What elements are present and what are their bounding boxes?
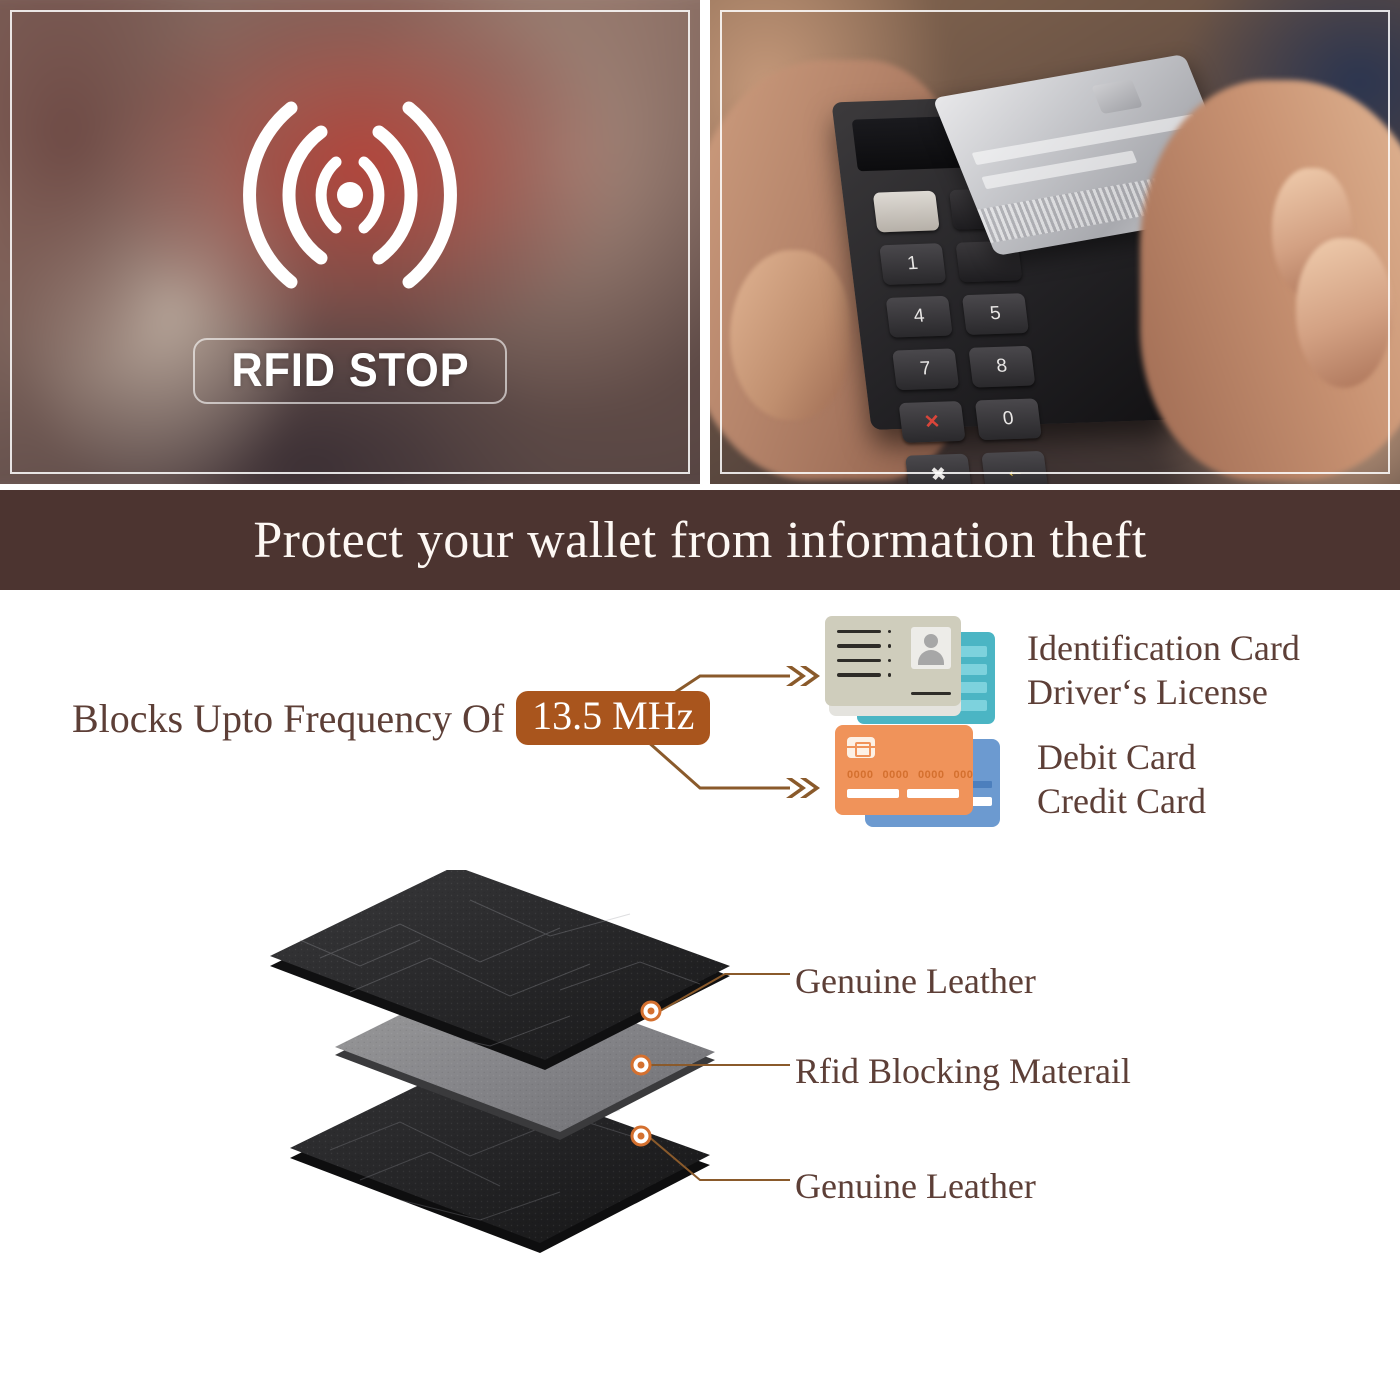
id-card-signature-line <box>911 692 951 695</box>
frequency-section: Blocks Upto Frequency Of 13.5 MHz <box>0 598 1400 870</box>
card-terminal-photo: 1 4 5 7 8 ✕ 0 ✖ ← <box>710 0 1400 484</box>
card-chip <box>1091 79 1143 114</box>
label-drivers-license: Driver‘s License <box>1027 671 1300 715</box>
frequency-value-badge: 13.5 MHz <box>516 691 710 745</box>
right-thumb <box>1296 238 1392 388</box>
key-blank <box>873 191 940 233</box>
id-line <box>837 630 891 633</box>
id-line <box>837 659 891 662</box>
id-card-icon <box>825 616 995 726</box>
key-clear: ✖ <box>905 454 972 484</box>
layer-label-bottom: Genuine Leather <box>795 1165 1036 1207</box>
rfid-logo-group: RFID STOP <box>0 70 700 404</box>
rfid-signal-icon <box>205 70 495 320</box>
layer-label-top: Genuine Leather <box>795 960 1036 1002</box>
label-debit-card: Debit Card <box>1037 736 1206 780</box>
key-8: 8 <box>968 346 1035 388</box>
id-card-text-lines <box>837 630 891 688</box>
layer-stack-illustration <box>0 870 1400 1310</box>
key-cancel: ✕ <box>899 401 966 443</box>
avatar-body <box>918 650 944 665</box>
keypad-row: ✖ ← <box>905 448 1141 484</box>
id-card-front <box>825 616 961 706</box>
double-chevron-arrow <box>786 666 820 798</box>
card-digits: 0000 <box>918 769 944 781</box>
identification-card-labels: Identification Card Driver‘s License <box>1027 627 1300 715</box>
layer-label-middle: Rfid Blocking Materail <box>795 1050 1131 1092</box>
keypad-row: ✕ 0 <box>899 395 1135 443</box>
card-bar-2 <box>907 789 959 798</box>
payment-card-target: 0000 0000 0000 0000 Debit Card Credit Ca… <box>835 725 1206 835</box>
frequency-prefix-text: Blocks Upto Frequency Of <box>72 695 504 742</box>
chip-icon <box>847 737 875 758</box>
card-digits: 0000 <box>953 769 973 781</box>
key-0: 0 <box>975 398 1042 440</box>
key-4: 4 <box>886 296 953 338</box>
card-digits: 0000 <box>882 769 908 781</box>
credit-card-icon: 0000 0000 0000 0000 <box>835 725 1005 835</box>
label-credit-card: Credit Card <box>1037 780 1206 824</box>
keypad-row: 4 5 <box>886 290 1122 338</box>
card-bar-1 <box>847 789 899 798</box>
credit-card-front-orange: 0000 0000 0000 0000 <box>835 725 973 815</box>
id-line <box>837 673 891 676</box>
avatar-head <box>924 634 938 648</box>
label-identification-card: Identification Card <box>1027 627 1300 671</box>
card-number-group: 0000 0000 0000 0000 <box>847 769 973 781</box>
hero-photo-row: RFID STOP 1 4 5 <box>0 0 1400 484</box>
rfid-stop-label: RFID STOP <box>231 346 469 393</box>
rfid-logo-photo: RFID STOP <box>0 0 700 484</box>
card-digits: 0000 <box>847 769 873 781</box>
keypad-row: 7 8 <box>892 343 1128 391</box>
key-back: ← <box>981 451 1048 484</box>
left-thumb <box>730 250 850 420</box>
id-line <box>837 644 891 647</box>
headline-band: Protect your wallet from information the… <box>0 490 1400 590</box>
rfid-stop-badge: RFID STOP <box>193 338 508 404</box>
payment-card-labels: Debit Card Credit Card <box>1037 736 1206 824</box>
key-1: 1 <box>879 243 946 285</box>
layer-marker <box>642 1002 660 1020</box>
layer-marker <box>632 1127 650 1145</box>
layer-marker <box>632 1056 650 1074</box>
key-7: 7 <box>892 348 959 390</box>
layer-construction-section: Genuine Leather Rfid Blocking Materail G… <box>0 870 1400 1310</box>
id-card-photo <box>911 627 951 669</box>
headline-text: Protect your wallet from information the… <box>253 511 1146 570</box>
frequency-statement: Blocks Upto Frequency Of 13.5 MHz <box>72 691 710 745</box>
key-5: 5 <box>962 293 1029 335</box>
identification-card-target: Identification Card Driver‘s License <box>825 616 1300 726</box>
